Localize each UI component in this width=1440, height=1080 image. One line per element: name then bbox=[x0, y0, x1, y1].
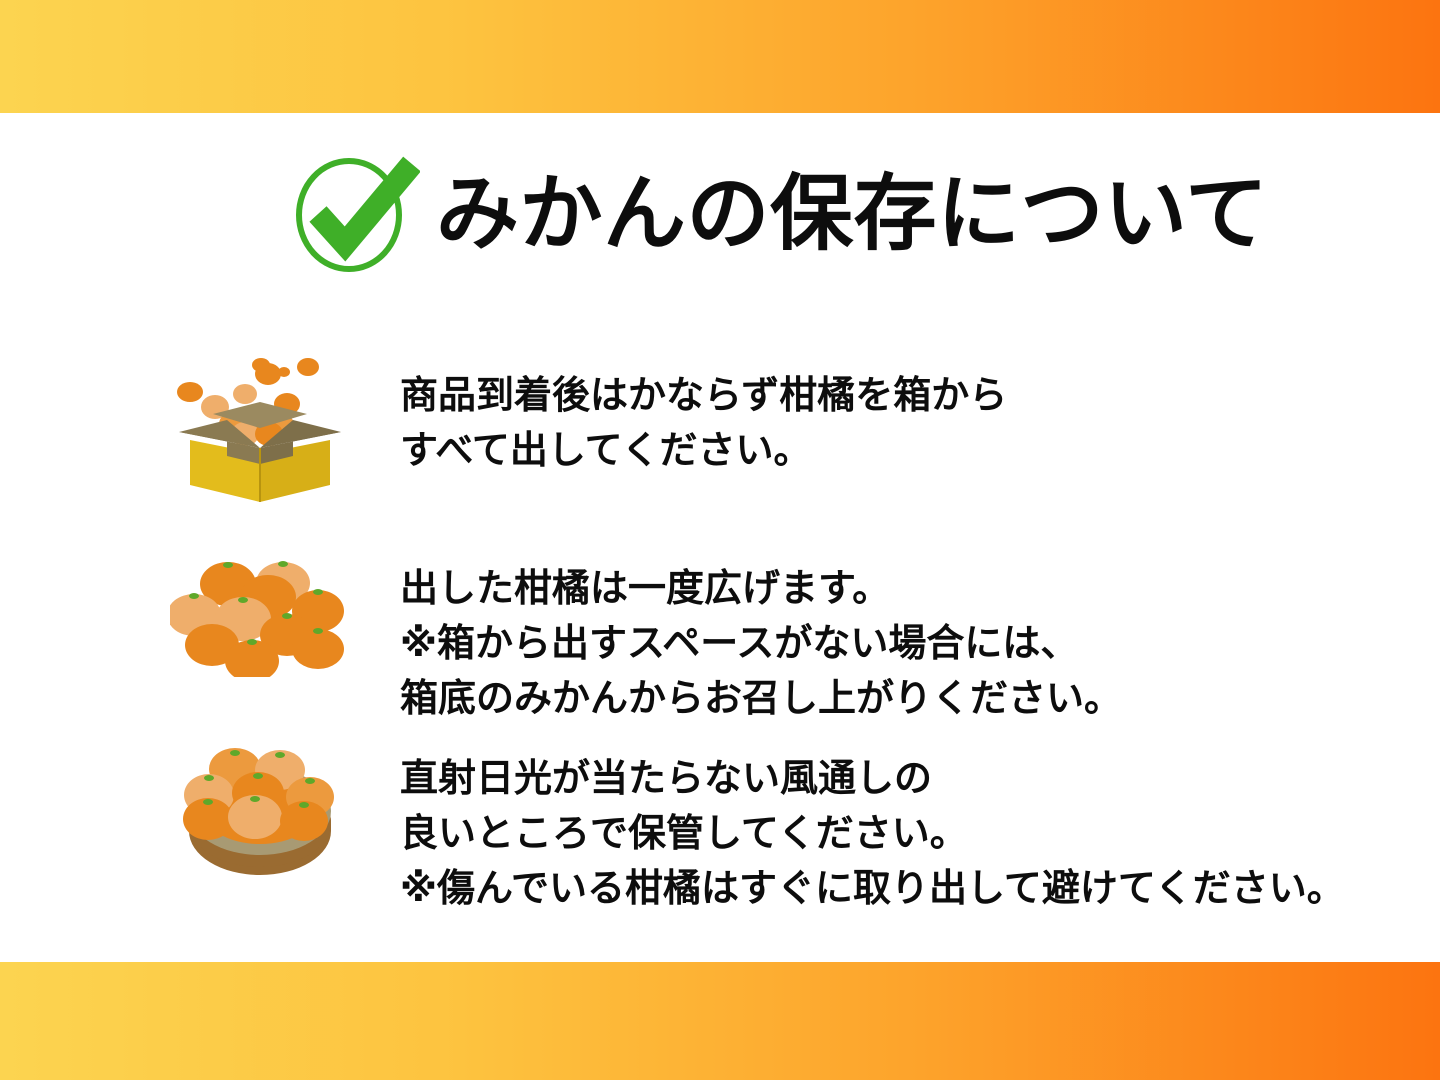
section-text: 直射日光が当たらない風通しの 良いところで保管してください。 ※傷んでいる柑橘は… bbox=[400, 735, 1345, 916]
orange-box-illustration bbox=[165, 352, 355, 502]
spread-mandarins-illustration bbox=[170, 557, 350, 677]
section-text: 出した柑橘は一度広げます。 ※箱から出すスペースがない場合には、 箱底のみかんか… bbox=[400, 545, 1122, 726]
section-line: 出した柑橘は一度広げます。 bbox=[400, 561, 1122, 616]
section-row: 出した柑橘は一度広げます。 ※箱から出すスペースがない場合には、 箱底のみかんか… bbox=[160, 545, 1122, 726]
top-gradient-band bbox=[0, 0, 1440, 113]
section-line: ※箱から出すスペースがない場合には、 bbox=[400, 616, 1122, 671]
section-line: 箱底のみかんからお召し上がりください。 bbox=[400, 671, 1122, 726]
section-row: 商品到着後はかならず柑橘を箱から すべて出してください。 bbox=[160, 352, 1007, 502]
section-illustration bbox=[160, 545, 360, 677]
section-row: 直射日光が当たらない風通しの 良いところで保管してください。 ※傷んでいる柑橘は… bbox=[160, 735, 1345, 916]
section-line: ※傷んでいる柑橘はすぐに取り出して避けてください。 bbox=[400, 861, 1345, 916]
bottom-gradient-band bbox=[0, 962, 1440, 1080]
page-title: みかんの保存について bbox=[436, 172, 1269, 255]
section-line: 直射日光が当たらない風通しの bbox=[400, 751, 1345, 806]
section-line: 良いところで保管してください。 bbox=[400, 806, 1345, 861]
title-row: みかんの保存について bbox=[288, 152, 1269, 274]
section-text: 商品到着後はかならず柑橘を箱から すべて出してください。 bbox=[400, 352, 1007, 478]
slide-root: みかんの保存について bbox=[0, 0, 1440, 1080]
section-line: 商品到着後はかならず柑橘を箱から bbox=[400, 368, 1007, 423]
circle-check-icon bbox=[288, 152, 420, 274]
mandarin-basket-illustration bbox=[175, 745, 345, 875]
section-illustration bbox=[160, 352, 360, 502]
section-illustration bbox=[160, 735, 360, 875]
section-line: すべて出してください。 bbox=[400, 423, 1007, 478]
